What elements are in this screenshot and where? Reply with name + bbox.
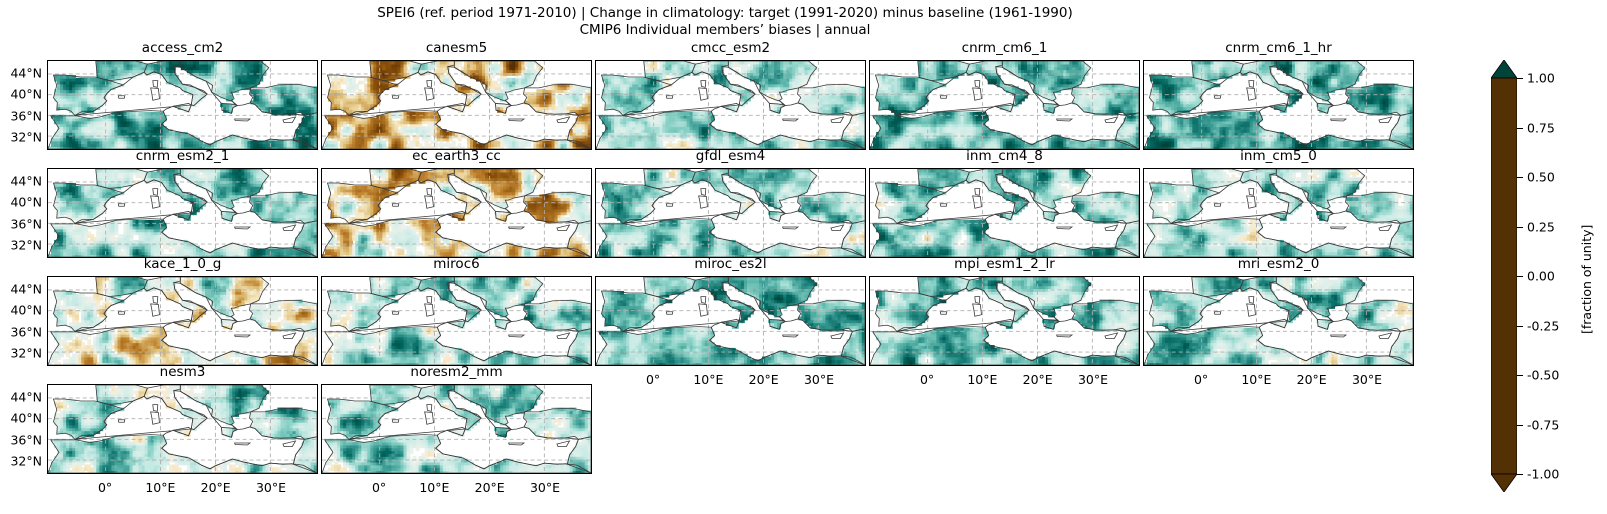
ytick-label: 40°N	[0, 411, 42, 426]
map-panel-inm_cm5_0[interactable]: inm_cm5_0	[1143, 168, 1414, 258]
figure-title-line1: SPEI6 (ref. period 1971-2010) | Change i…	[377, 5, 1073, 21]
xtick-label: 0°	[98, 480, 112, 495]
figure-title-line2: CMIP6 Individual members’ biases | annua…	[0, 22, 1450, 39]
map-panel-cnrm_cm6_1_hr[interactable]: cnrm_cm6_1_hr	[1143, 60, 1414, 150]
figure-canvas: SPEI6 (ref. period 1971-2010) | Change i…	[0, 0, 1607, 514]
colorbar-tick-mark	[1517, 227, 1523, 228]
panel-axes-gfdl_esm4	[595, 168, 866, 258]
panel-axes-cmcc_esm2	[595, 60, 866, 150]
xtick-label: 20°E	[1023, 372, 1053, 387]
map-panel-ec_earth3_cc[interactable]: ec_earth3_cc	[321, 168, 592, 258]
map-panel-nesm3[interactable]: nesm3	[47, 384, 318, 474]
panel-axes-cnrm_esm2_1	[47, 168, 318, 258]
panel-title-mpi_esm1_2_lr: mpi_esm1_2_lr	[869, 256, 1140, 272]
xtick-label: 30°E	[804, 372, 834, 387]
panel-axes-inm_cm4_8	[869, 168, 1140, 258]
panel-title-cnrm_cm6_1_hr: cnrm_cm6_1_hr	[1143, 40, 1414, 56]
panel-axes-ec_earth3_cc	[321, 168, 592, 258]
xtick-label: 10°E	[693, 372, 723, 387]
ytick-label: 44°N	[0, 174, 42, 189]
ytick-label: 44°N	[0, 66, 42, 81]
colorbar-tick-label: -0.50	[1527, 368, 1559, 383]
colorbar-tick-mark	[1517, 375, 1523, 376]
colorbar-tick-label: -0.25	[1527, 318, 1559, 333]
panel-title-canesm5: canesm5	[321, 40, 592, 56]
colorbar-tick-mark	[1517, 128, 1523, 129]
ytick-label: 40°N	[0, 303, 42, 318]
colorbar-tick-mark	[1517, 177, 1523, 178]
ytick-label: 36°N	[0, 108, 42, 123]
xtick-label: 10°E	[419, 480, 449, 495]
colorbar-tick-label: 0.25	[1527, 219, 1555, 234]
colorbar-tick-mark	[1517, 78, 1523, 79]
colorbar-tick-mark	[1517, 474, 1523, 475]
ytick-label: 44°N	[0, 282, 42, 297]
ytick-label: 32°N	[0, 453, 42, 468]
ytick-label: 44°N	[0, 390, 42, 405]
map-panel-access_cm2[interactable]: access_cm2	[47, 60, 318, 150]
panel-axes-access_cm2	[47, 60, 318, 150]
colorbar-tick-mark	[1517, 276, 1523, 277]
map-panel-kace_1_0_g[interactable]: kace_1_0_g	[47, 276, 318, 366]
colorbar-tick-label: 0.00	[1527, 269, 1555, 284]
ytick-label: 40°N	[0, 87, 42, 102]
xtick-label: 0°	[646, 372, 660, 387]
ytick-label: 36°N	[0, 324, 42, 339]
colorbar-tick-mark	[1517, 425, 1523, 426]
panel-axes-canesm5	[321, 60, 592, 150]
panel-axes-miroc6	[321, 276, 592, 366]
panel-title-miroc6: miroc6	[321, 256, 592, 272]
panel-title-cmcc_esm2: cmcc_esm2	[595, 40, 866, 56]
panel-title-access_cm2: access_cm2	[47, 40, 318, 56]
colorbar-tick-label: 0.75	[1527, 120, 1555, 135]
colorbar-gradient[interactable]	[1491, 60, 1517, 492]
panel-axes-cnrm_cm6_1	[869, 60, 1140, 150]
colorbar-tick-label: -0.75	[1527, 417, 1559, 432]
panel-axes-mpi_esm1_2_lr	[869, 276, 1140, 366]
xtick-label: 30°E	[1352, 372, 1382, 387]
panel-axes-noresm2_mm	[321, 384, 592, 474]
figure-title: SPEI6 (ref. period 1971-2010) | Change i…	[0, 5, 1450, 39]
colorbar-tick-label: 1.00	[1527, 71, 1555, 86]
panel-title-cnrm_cm6_1: cnrm_cm6_1	[869, 40, 1140, 56]
xtick-label: 10°E	[145, 480, 175, 495]
panel-title-ec_earth3_cc: ec_earth3_cc	[321, 148, 592, 164]
panel-axes-mri_esm2_0	[1143, 276, 1414, 366]
panel-title-mri_esm2_0: mri_esm2_0	[1143, 256, 1414, 272]
panel-axes-nesm3	[47, 384, 318, 474]
map-panel-noresm2_mm[interactable]: noresm2_mm	[321, 384, 592, 474]
ytick-label: 32°N	[0, 345, 42, 360]
xtick-label: 20°E	[475, 480, 505, 495]
panel-title-inm_cm5_0: inm_cm5_0	[1143, 148, 1414, 164]
xtick-label: 0°	[1194, 372, 1208, 387]
xtick-label: 10°E	[1241, 372, 1271, 387]
map-panel-gfdl_esm4[interactable]: gfdl_esm4	[595, 168, 866, 258]
colorbar[interactable]	[1491, 60, 1517, 492]
map-panel-miroc_es2l[interactable]: miroc_es2l	[595, 276, 866, 366]
panel-title-gfdl_esm4: gfdl_esm4	[595, 148, 866, 164]
xtick-label: 0°	[372, 480, 386, 495]
panel-axes-kace_1_0_g	[47, 276, 318, 366]
map-panel-cnrm_esm2_1[interactable]: cnrm_esm2_1	[47, 168, 318, 258]
panel-axes-miroc_es2l	[595, 276, 866, 366]
colorbar-tick-label: -1.00	[1527, 467, 1559, 482]
map-panel-mri_esm2_0[interactable]: mri_esm2_0	[1143, 276, 1414, 366]
panel-title-miroc_es2l: miroc_es2l	[595, 256, 866, 272]
ytick-label: 36°N	[0, 216, 42, 231]
ytick-label: 32°N	[0, 129, 42, 144]
ytick-label: 40°N	[0, 195, 42, 210]
colorbar-tick-mark	[1517, 326, 1523, 327]
xtick-label: 20°E	[1297, 372, 1327, 387]
xtick-label: 20°E	[201, 480, 231, 495]
colorbar-tick-label: 0.50	[1527, 170, 1555, 185]
panel-title-inm_cm4_8: inm_cm4_8	[869, 148, 1140, 164]
map-panel-cnrm_cm6_1[interactable]: cnrm_cm6_1	[869, 60, 1140, 150]
panel-title-kace_1_0_g: kace_1_0_g	[47, 256, 318, 272]
ytick-label: 36°N	[0, 432, 42, 447]
xtick-label: 30°E	[1078, 372, 1108, 387]
xtick-label: 0°	[920, 372, 934, 387]
panel-axes-cnrm_cm6_1_hr	[1143, 60, 1414, 150]
map-panel-miroc6[interactable]: miroc6	[321, 276, 592, 366]
ytick-label: 32°N	[0, 237, 42, 252]
panel-title-nesm3: nesm3	[47, 364, 318, 380]
panel-title-cnrm_esm2_1: cnrm_esm2_1	[47, 148, 318, 164]
xtick-label: 30°E	[256, 480, 286, 495]
xtick-label: 20°E	[749, 372, 779, 387]
panel-title-noresm2_mm: noresm2_mm	[321, 364, 592, 380]
xtick-label: 30°E	[530, 480, 560, 495]
map-panel-cmcc_esm2[interactable]: cmcc_esm2	[595, 60, 866, 150]
map-panel-mpi_esm1_2_lr[interactable]: mpi_esm1_2_lr	[869, 276, 1140, 366]
map-panel-canesm5[interactable]: canesm5	[321, 60, 592, 150]
map-panel-inm_cm4_8[interactable]: inm_cm4_8	[869, 168, 1140, 258]
colorbar-label: [fraction of unity]	[1579, 225, 1594, 334]
xtick-label: 10°E	[967, 372, 997, 387]
panel-axes-inm_cm5_0	[1143, 168, 1414, 258]
